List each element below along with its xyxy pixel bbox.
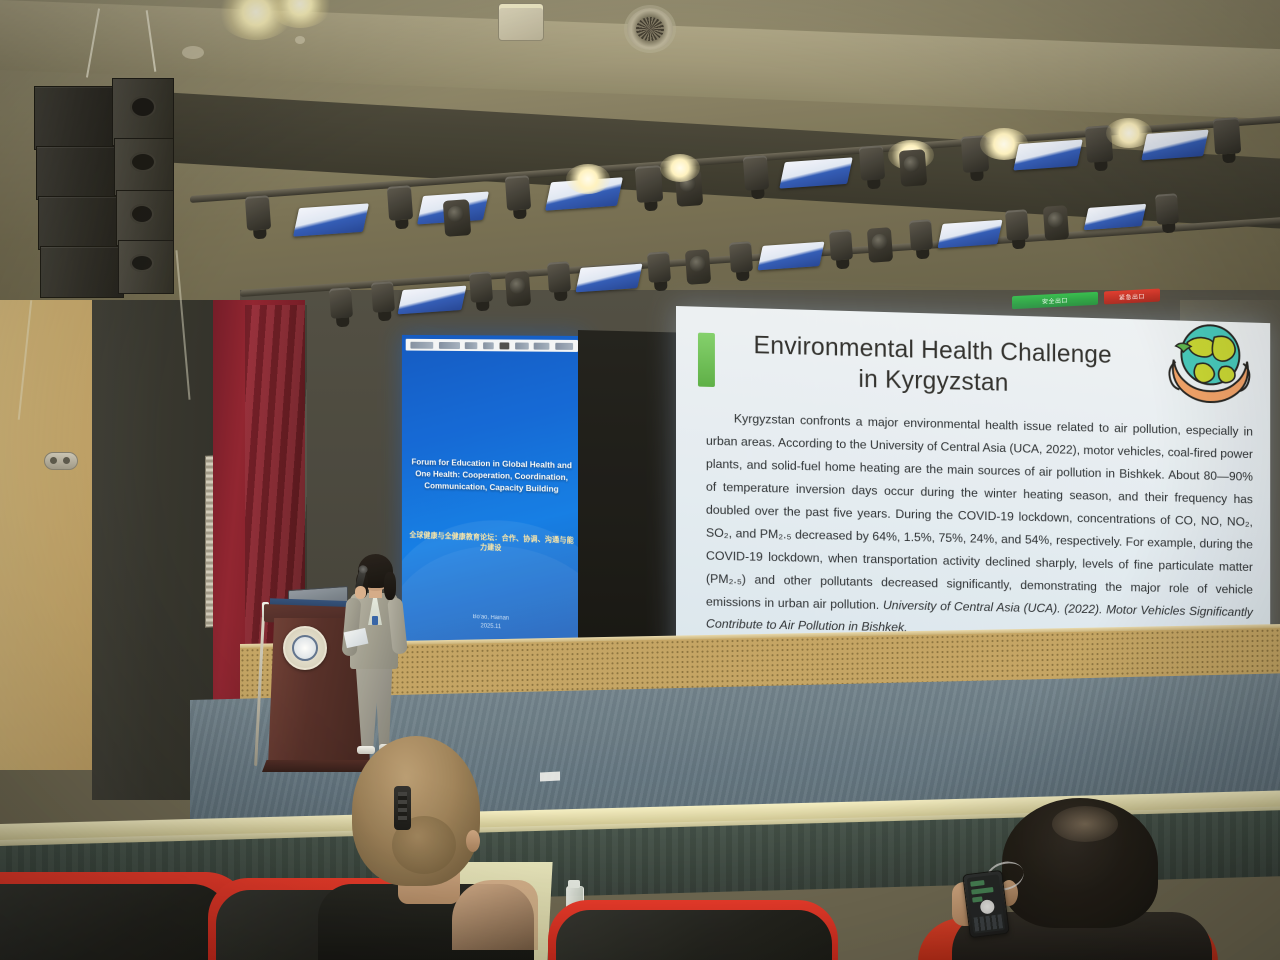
- lit-lamp: [660, 154, 700, 182]
- exit-sign-red-label: 紧急出口: [1119, 291, 1145, 301]
- stage-spotlight: [729, 241, 753, 272]
- stage-spotlight: [245, 195, 271, 231]
- stage-spotlight: [635, 165, 663, 203]
- stage-spotlight: [329, 287, 353, 318]
- stage-spotlight: [505, 175, 531, 211]
- podium-emblem-icon: [283, 626, 327, 670]
- stage-spotlight: [469, 271, 493, 302]
- stage-spotlight: [743, 155, 769, 191]
- attendee-ear: [466, 830, 480, 852]
- stage-spotlight: [1155, 193, 1179, 224]
- slide-title: Environmental Health Challenge in Kyrgyz…: [720, 329, 1145, 401]
- stage-spotlight: [387, 185, 413, 221]
- forum-title: Forum for Education in Global Health and…: [409, 455, 574, 495]
- ceiling-access-panel: [498, 3, 544, 41]
- stage-spotlight: [1213, 117, 1241, 155]
- stage-spotlight: [647, 251, 671, 282]
- phone-emoji-icon: [980, 899, 996, 915]
- water-bottle-cap: [568, 880, 580, 888]
- led-panel-light: [293, 203, 369, 236]
- led-panel-light: [575, 264, 642, 293]
- stage-spotlight: [909, 219, 933, 250]
- led-panel-light: [1141, 130, 1208, 161]
- stage-spotlight: [547, 261, 571, 292]
- exit-sign-green-label: 安全出口: [1042, 295, 1068, 305]
- presenter-hair-side-right: [384, 572, 396, 600]
- projection-screen-left: Forum for Education in Global Health and…: [402, 335, 582, 658]
- auditorium-scene: 安全出口 紧急出口 Forum for Education in Global …: [0, 0, 1280, 960]
- led-panel-light: [397, 286, 466, 315]
- moving-head-light: [443, 199, 471, 237]
- organizer-logo-strip: [406, 339, 578, 352]
- screen-divider: [578, 330, 684, 663]
- presenter-badge: [372, 616, 378, 625]
- moving-head-light: [505, 271, 531, 307]
- led-panel-light: [779, 157, 852, 188]
- globe-in-hands-icon: [1152, 316, 1264, 410]
- led-panel-light: [937, 220, 1002, 249]
- stage-spotlight: [859, 145, 885, 181]
- left-wall-panel: [0, 300, 98, 770]
- wall-fixture-icon: [44, 452, 78, 470]
- attendee-hair-highlight: [1052, 806, 1118, 842]
- slide-body-text: Kyrgyzstan confronts a major environment…: [706, 407, 1253, 646]
- podium-base: [262, 760, 376, 772]
- phone-keyboard[interactable]: [974, 914, 1003, 931]
- air-diffuser-icon: [627, 8, 673, 50]
- presenter-hand: [355, 586, 366, 599]
- stage-spotlight: [829, 229, 853, 260]
- floor-paper-scrap: [540, 771, 560, 781]
- phone-screen: [967, 874, 1006, 933]
- seat-right[interactable]: [556, 910, 832, 960]
- attendee-shoulder: [452, 880, 538, 950]
- hair-clip-icon: [394, 786, 411, 830]
- presenter-shoe-left: [357, 746, 375, 754]
- stage-spotlight: [1005, 209, 1029, 240]
- stage-spotlight: [371, 281, 395, 312]
- moving-head-light: [685, 249, 711, 285]
- led-panel-light: [1013, 140, 1082, 171]
- title-accent-bar: [698, 333, 715, 387]
- smartphone[interactable]: [962, 870, 1010, 938]
- seat-left[interactable]: [0, 884, 230, 960]
- smoke-detector: [182, 46, 204, 59]
- moving-head-light: [899, 149, 927, 187]
- led-panel-light: [757, 242, 824, 271]
- slide-paragraph: Kyrgyzstan confronts a major environment…: [706, 411, 1253, 612]
- lit-lamp: [566, 164, 610, 194]
- moving-head-light: [867, 227, 893, 263]
- led-panel-light: [1084, 204, 1147, 230]
- ceiling-fitting: [295, 36, 305, 44]
- moving-head-light: [1043, 205, 1069, 241]
